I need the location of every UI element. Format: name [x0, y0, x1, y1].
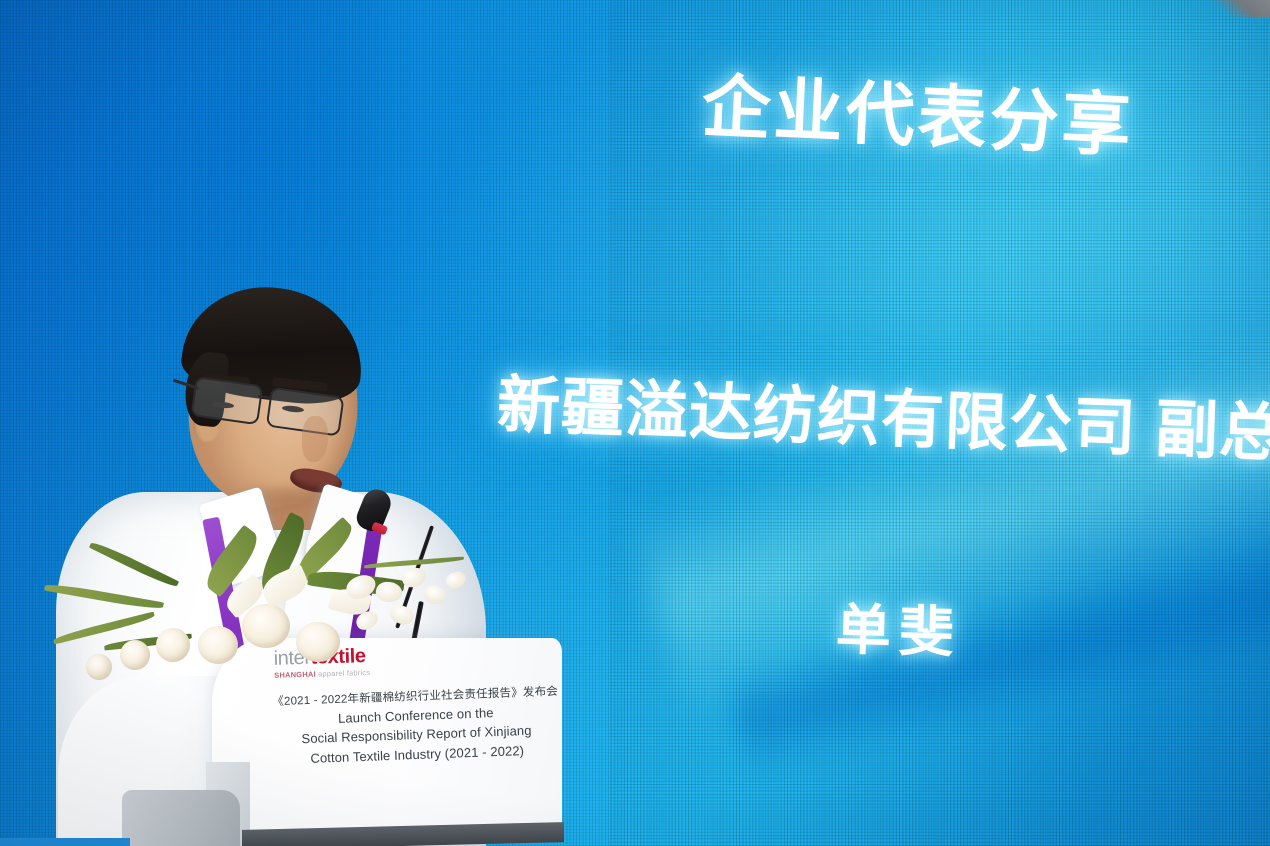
- glasses-lens-left: [190, 376, 263, 425]
- ceiling-corner-wedge: [1206, 0, 1270, 18]
- orchid-petal: [422, 583, 449, 607]
- orchid-petal: [444, 570, 467, 590]
- leaf-blade: [89, 539, 179, 589]
- rose-bud: [86, 654, 112, 680]
- speaker-trousers: [122, 790, 240, 846]
- rose-bloom: [242, 604, 290, 648]
- leaf-blade: [44, 582, 164, 612]
- rose-bloom: [198, 626, 238, 664]
- screen-title: 企业代表分享: [700, 50, 1136, 169]
- rose-bloom: [120, 640, 150, 670]
- floor-strip: [0, 838, 130, 846]
- rose-bloom: [296, 622, 340, 662]
- rose-bloom: [156, 628, 190, 662]
- orchid-petal: [401, 566, 427, 588]
- orchid-stem: [364, 557, 464, 569]
- screen-speaker-name: 单斐: [835, 584, 963, 667]
- stage-photo: 企业代表分享 新疆溢达纺织有限公司 副总经理 单斐 intertextile: [0, 0, 1270, 846]
- floral-arrangement: [46, 520, 516, 700]
- orchid-petal: [387, 601, 417, 628]
